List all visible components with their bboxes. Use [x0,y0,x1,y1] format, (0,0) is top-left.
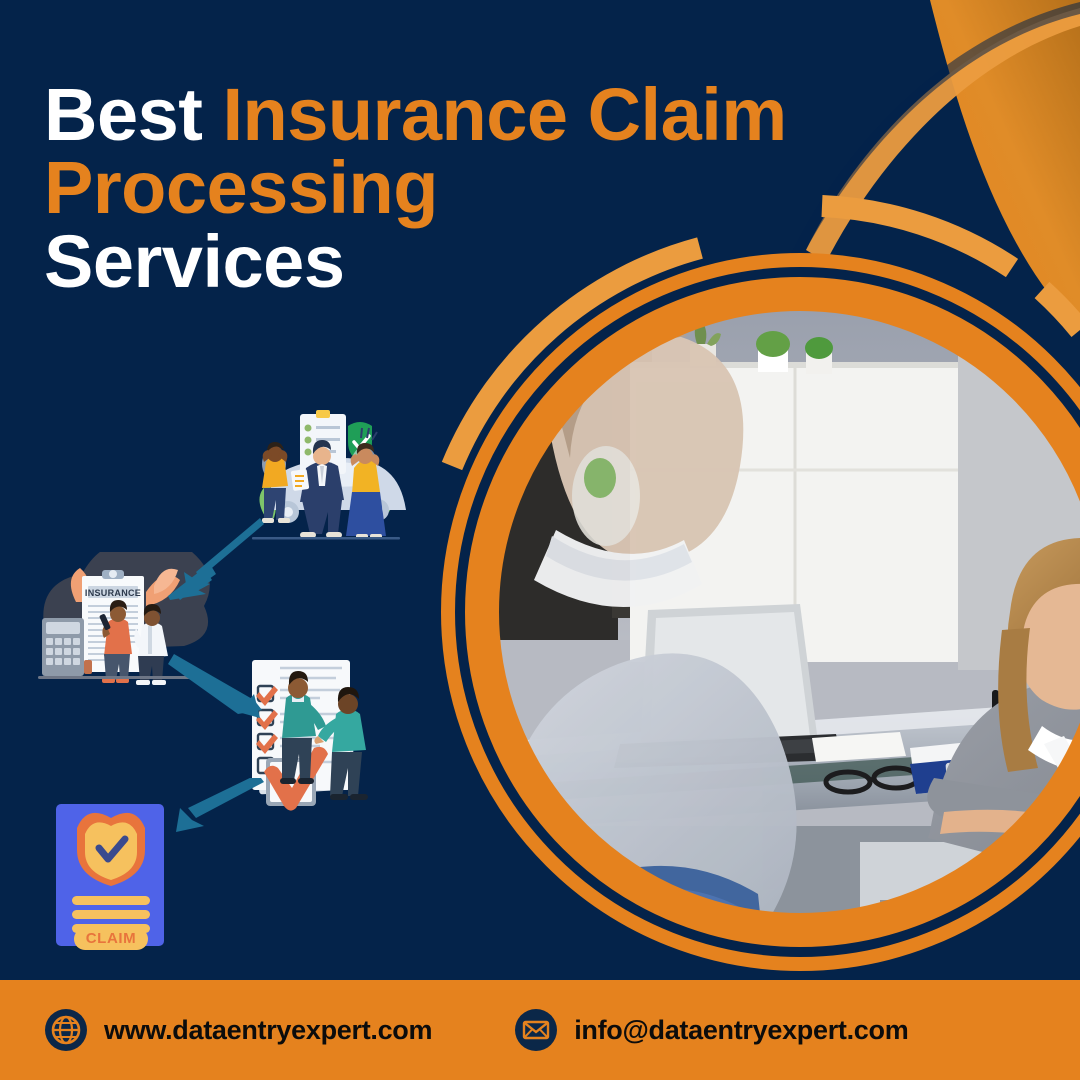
arrow-step-3-to-4 [158,778,270,840]
page-title: Best Insurance Claim Processing Services [44,78,1004,298]
headline-processing: Processing [44,151,1004,224]
headline-line-1: Best Insurance Claim [44,78,1004,151]
headline-best: Best [44,73,222,156]
website-url[interactable]: www.dataentryexpert.com [104,1015,432,1046]
globe-icon [44,1008,88,1052]
potted-plant [756,331,790,372]
headline-services: Services [44,225,1004,298]
arrow-step-2-to-3 [168,652,284,728]
contact-footer-bar: www.dataentryexpert.com info@dataentryex… [0,980,1080,1080]
envelope-icon [514,1008,558,1052]
email-address[interactable]: info@dataentryexpert.com [574,1015,908,1046]
svg-text:CLAIM: CLAIM [86,930,137,947]
headline-insurance-claim: Insurance Claim [222,73,786,156]
email-contact[interactable]: info@dataentryexpert.com [514,1008,908,1052]
arrow-step-1-to-2 [152,518,272,602]
potted-plant [805,337,833,374]
website-contact[interactable]: www.dataentryexpert.com [44,1008,432,1052]
poster-canvas: Best Insurance Claim Processing Services [0,0,1080,1080]
claim-approved-card-illustration: CLAIM [52,800,170,950]
svg-text:INSURANCE: INSURANCE [85,588,141,598]
